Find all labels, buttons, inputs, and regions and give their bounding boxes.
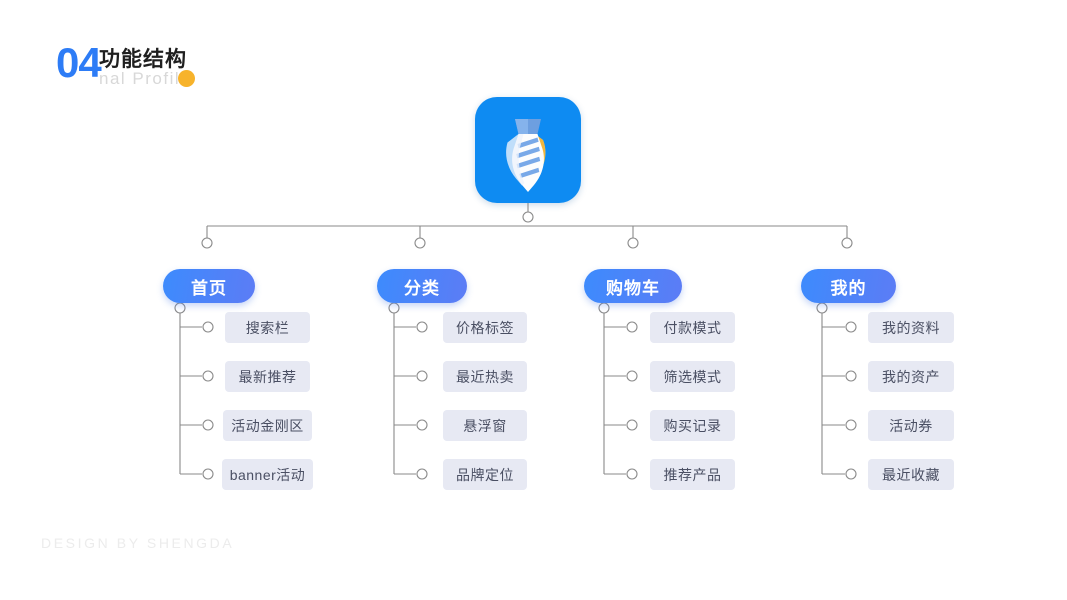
branch-node-category[interactable]: 分类	[377, 269, 467, 303]
leaf-node[interactable]: 价格标签	[443, 312, 527, 343]
leaf-node[interactable]: 最近收藏	[868, 459, 954, 490]
page-header: 04 功能结构 nal Profile	[56, 42, 356, 104]
leaf-node[interactable]: banner活动	[222, 459, 313, 490]
leaf-node[interactable]: 最近热卖	[443, 361, 527, 392]
section-number: 04	[56, 42, 101, 84]
branch-node-cart[interactable]: 购物车	[584, 269, 682, 303]
leaf-node[interactable]: 活动金刚区	[223, 410, 312, 441]
leaf-node[interactable]: 活动券	[868, 410, 954, 441]
branch-node-mine[interactable]: 我的	[801, 269, 896, 303]
decorative-dot-icon	[178, 70, 195, 87]
leaf-node[interactable]: 最新推荐	[225, 361, 310, 392]
page-title: 功能结构	[99, 49, 187, 70]
branch-node-home[interactable]: 首页	[163, 269, 255, 303]
slide-canvas: 04 功能结构 nal Profile	[0, 0, 1067, 600]
necktie-icon	[475, 97, 581, 203]
leaf-node[interactable]: 搜索栏	[225, 312, 310, 343]
leaf-node[interactable]: 我的资产	[868, 361, 954, 392]
root-app-icon	[475, 97, 581, 203]
leaf-node[interactable]: 付款模式	[650, 312, 735, 343]
leaf-node[interactable]: 我的资料	[868, 312, 954, 343]
leaf-node[interactable]: 购买记录	[650, 410, 735, 441]
leaf-node[interactable]: 筛选模式	[650, 361, 735, 392]
leaf-node[interactable]: 悬浮窗	[443, 410, 527, 441]
footer-credit: DESIGN BY SHENGDA	[41, 535, 234, 551]
leaf-node[interactable]: 推荐产品	[650, 459, 735, 490]
leaf-node[interactable]: 品牌定位	[443, 459, 527, 490]
